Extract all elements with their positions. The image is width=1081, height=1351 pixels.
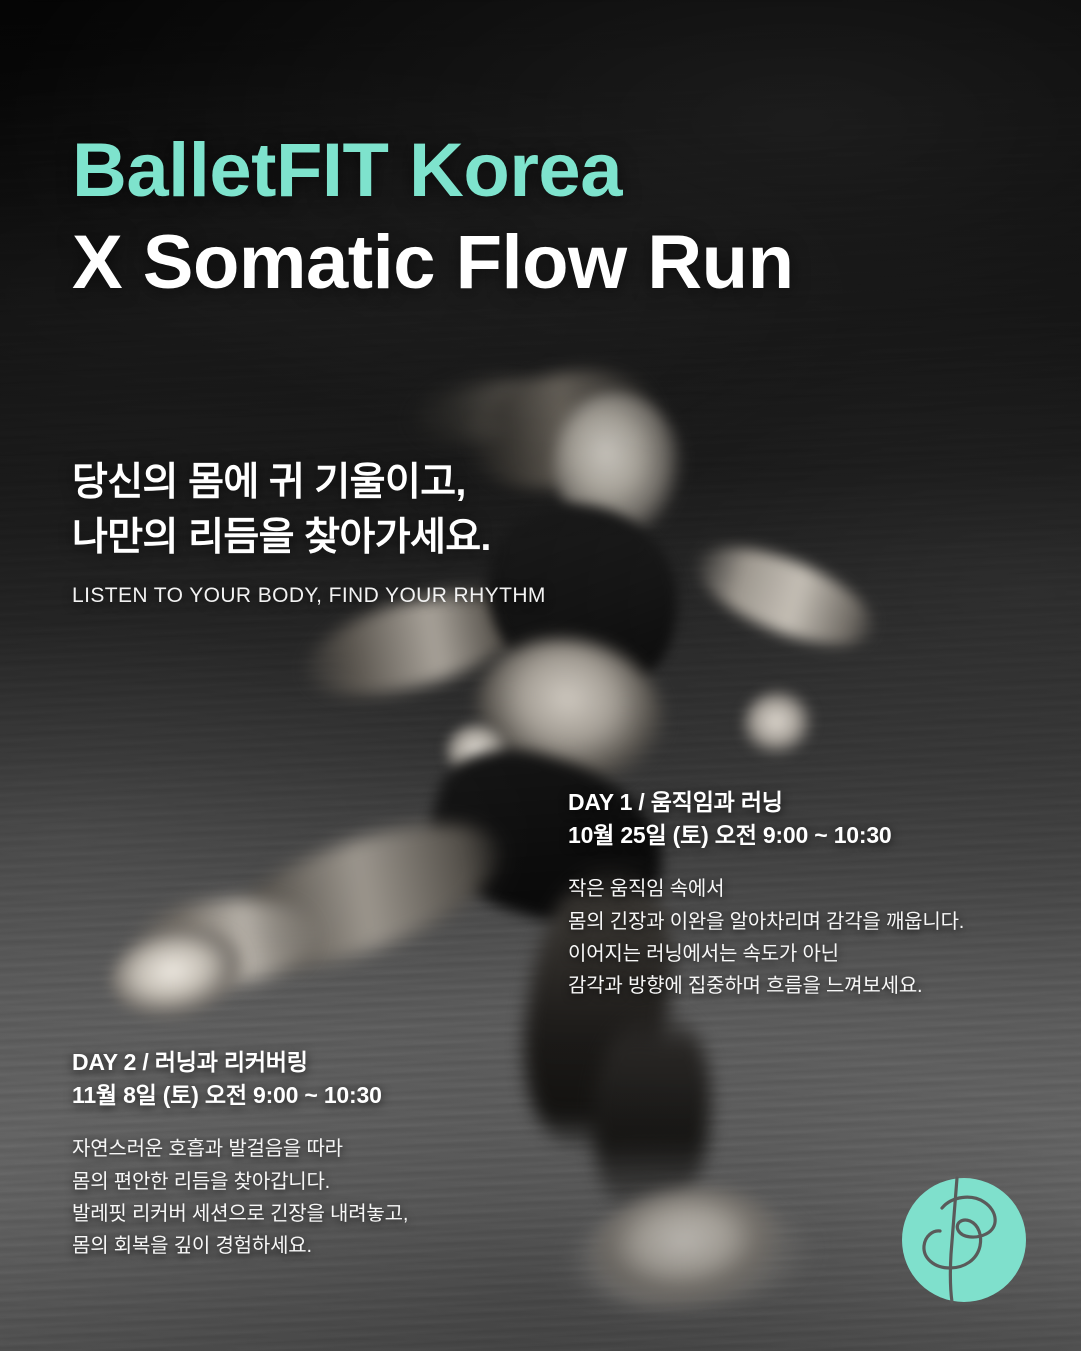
- title-line-event: X Somatic Flow Run: [72, 224, 794, 302]
- poster-tagline: 당신의 몸에 귀 기울이고, 나만의 리듬을 찾아가세요. LISTEN TO …: [72, 455, 546, 608]
- session-2-heading: DAY 2 / 러닝과 리커버링 11월 8일 (토) 오전 9:00 ~ 10…: [72, 1046, 408, 1111]
- tagline-korean-line-2: 나만의 리듬을 찾아가세요.: [72, 510, 546, 565]
- poster-content: BalletFIT Korea X Somatic Flow Run 당신의 몸…: [0, 0, 1081, 1351]
- tagline-english: LISTEN TO YOUR BODY, FIND YOUR RHYTHM: [72, 584, 546, 608]
- tagline-korean-line-1: 당신의 몸에 귀 기울이고,: [72, 455, 546, 510]
- session-2-title: DAY 2 / 러닝과 리커버링: [72, 1049, 308, 1075]
- session-block-day-1: DAY 1 / 움직임과 러닝 10월 25일 (토) 오전 9:00 ~ 10…: [568, 786, 964, 1003]
- balletfit-monogram-icon: [900, 1176, 1028, 1304]
- session-2-body-line-3: 발레핏 리커버 세션으로 긴장을 내려놓고,: [72, 1198, 408, 1230]
- session-2-schedule: 11월 8일 (토) 오전 9:00 ~ 10:30: [72, 1079, 408, 1112]
- session-1-schedule: 10월 25일 (토) 오전 9:00 ~ 10:30: [568, 819, 964, 852]
- poster-canvas: BalletFIT Korea X Somatic Flow Run 당신의 몸…: [0, 0, 1081, 1351]
- session-1-heading: DAY 1 / 움직임과 러닝 10월 25일 (토) 오전 9:00 ~ 10…: [568, 786, 964, 851]
- session-1-body-line-4: 감각과 방향에 집중하며 흐름을 느껴보세요.: [568, 970, 964, 1002]
- session-1-body-line-1: 작은 움직임 속에서: [568, 873, 964, 905]
- title-line-brand: BalletFIT Korea: [72, 132, 794, 210]
- session-1-body-line-3: 이어지는 러닝에서는 속도가 아닌: [568, 938, 964, 970]
- session-2-body-line-4: 몸의 회복을 깊이 경험하세요.: [72, 1230, 408, 1262]
- session-block-day-2: DAY 2 / 러닝과 리커버링 11월 8일 (토) 오전 9:00 ~ 10…: [72, 1046, 408, 1263]
- session-1-body-line-2: 몸의 긴장과 이완을 알아차리며 감각을 깨웁니다.: [568, 906, 964, 938]
- session-2-body-line-1: 자연스러운 호흡과 발걸음을 따라: [72, 1133, 408, 1165]
- session-2-description: 자연스러운 호흡과 발걸음을 따라 몸의 편안한 리듬을 찾아갑니다. 발레핏 …: [72, 1133, 408, 1263]
- poster-title: BalletFIT Korea X Somatic Flow Run: [72, 132, 794, 301]
- session-1-description: 작은 움직임 속에서 몸의 긴장과 이완을 알아차리며 감각을 깨웁니다. 이어…: [568, 873, 964, 1003]
- session-1-title: DAY 1 / 움직임과 러닝: [568, 789, 783, 815]
- brand-logo-badge: [900, 1176, 1028, 1304]
- session-2-body-line-2: 몸의 편안한 리듬을 찾아갑니다.: [72, 1166, 408, 1198]
